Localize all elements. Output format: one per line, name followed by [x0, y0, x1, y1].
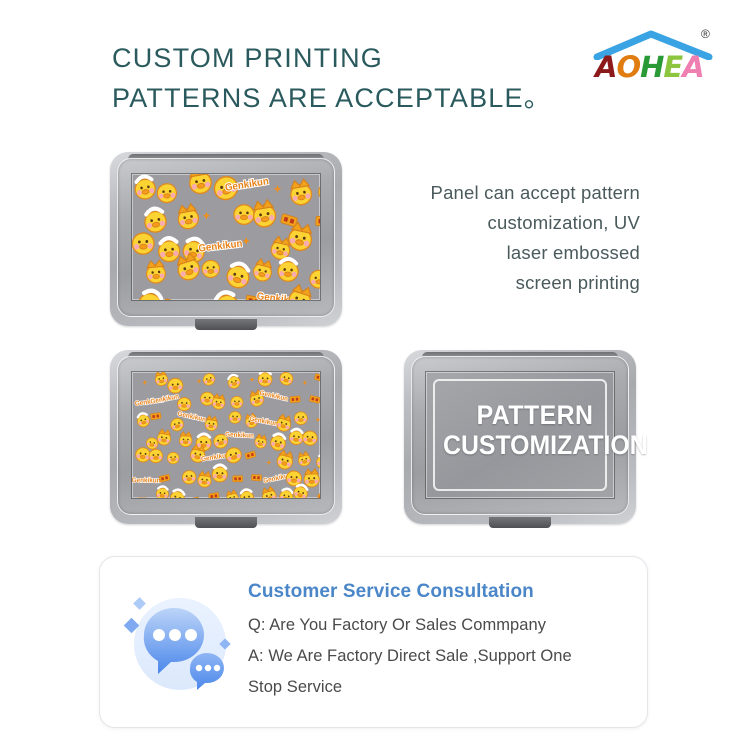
tin-latch [195, 319, 257, 330]
pattern-customization-line-2: CUSTOMIZATION [443, 430, 627, 460]
faq-answer-line-2: Stop Service [248, 672, 637, 703]
description-line-4: screen printing [378, 268, 640, 298]
header: CUSTOM PRINTING PATTERNS ARE ACCEPTABLE。… [0, 0, 750, 130]
svg-text:Genkikun: Genkikun [150, 393, 180, 406]
product-description: Panel can accept pattern customization, … [378, 178, 640, 298]
product-tin-duck-small: GenkikunGenkikunGenkikunGenkikunGenkikun… [110, 350, 342, 524]
headline-line-2: PATTERNS ARE ACCEPTABLE。 [112, 78, 552, 118]
pattern-customization-label: PATTERN CUSTOMIZATION [443, 400, 627, 460]
logo-letter-a1: A [595, 52, 616, 82]
page-title: CUSTOM PRINTING PATTERNS ARE ACCEPTABLE。 [112, 38, 552, 118]
tin-latch [195, 517, 257, 528]
brand-logo: AOHEA ® [585, 26, 725, 88]
svg-text:Genkikun: Genkikun [198, 238, 243, 255]
description-line-3: laser embossed [378, 238, 640, 268]
description-line-1: Panel can accept pattern [378, 178, 640, 208]
tin-latch [489, 517, 551, 528]
tin-panel-pattern: GenkikunGenkikunGenkikunGenkikunGenkikun… [132, 372, 320, 498]
logo-letter-h: H [640, 52, 663, 82]
chat-bubbles-icon [118, 582, 238, 702]
logo-letter-e: E [663, 52, 682, 82]
genkikun-duck-pattern-dense: GenkikunGenkikunGenkikunGenkikunGenkikun… [132, 372, 320, 498]
svg-text:Genkikun: Genkikun [132, 477, 161, 485]
product-tin-duck-large: GenkikunGenkikunGenkikun [110, 152, 342, 326]
description-line-2: customization, UV [378, 208, 640, 238]
headline-line-1: CUSTOM PRINTING [112, 38, 552, 78]
logo-letter-a2: A [682, 52, 703, 82]
registered-trademark-icon: ® [701, 28, 710, 40]
customer-service-body: Customer Service Consultation Q: Are You… [248, 579, 637, 703]
customer-service-card: Customer Service Consultation Q: Are You… [99, 556, 648, 728]
genkikun-duck-pattern: GenkikunGenkikunGenkikun [132, 174, 320, 300]
customer-service-title: Customer Service Consultation [248, 579, 637, 605]
logo-wordmark: AOHEA [595, 52, 704, 82]
faq-answer-line-1: A: We Are Factory Direct Sale ,Support O… [248, 641, 637, 672]
tin-panel-pattern: GenkikunGenkikunGenkikun [132, 174, 320, 300]
svg-text:Genkikun: Genkikun [225, 431, 254, 440]
logo-letter-o: O [616, 52, 640, 82]
faq-question: Q: Are You Factory Or Sales Commpany [248, 610, 637, 641]
pattern-customization-line-1: PATTERN [443, 400, 627, 430]
